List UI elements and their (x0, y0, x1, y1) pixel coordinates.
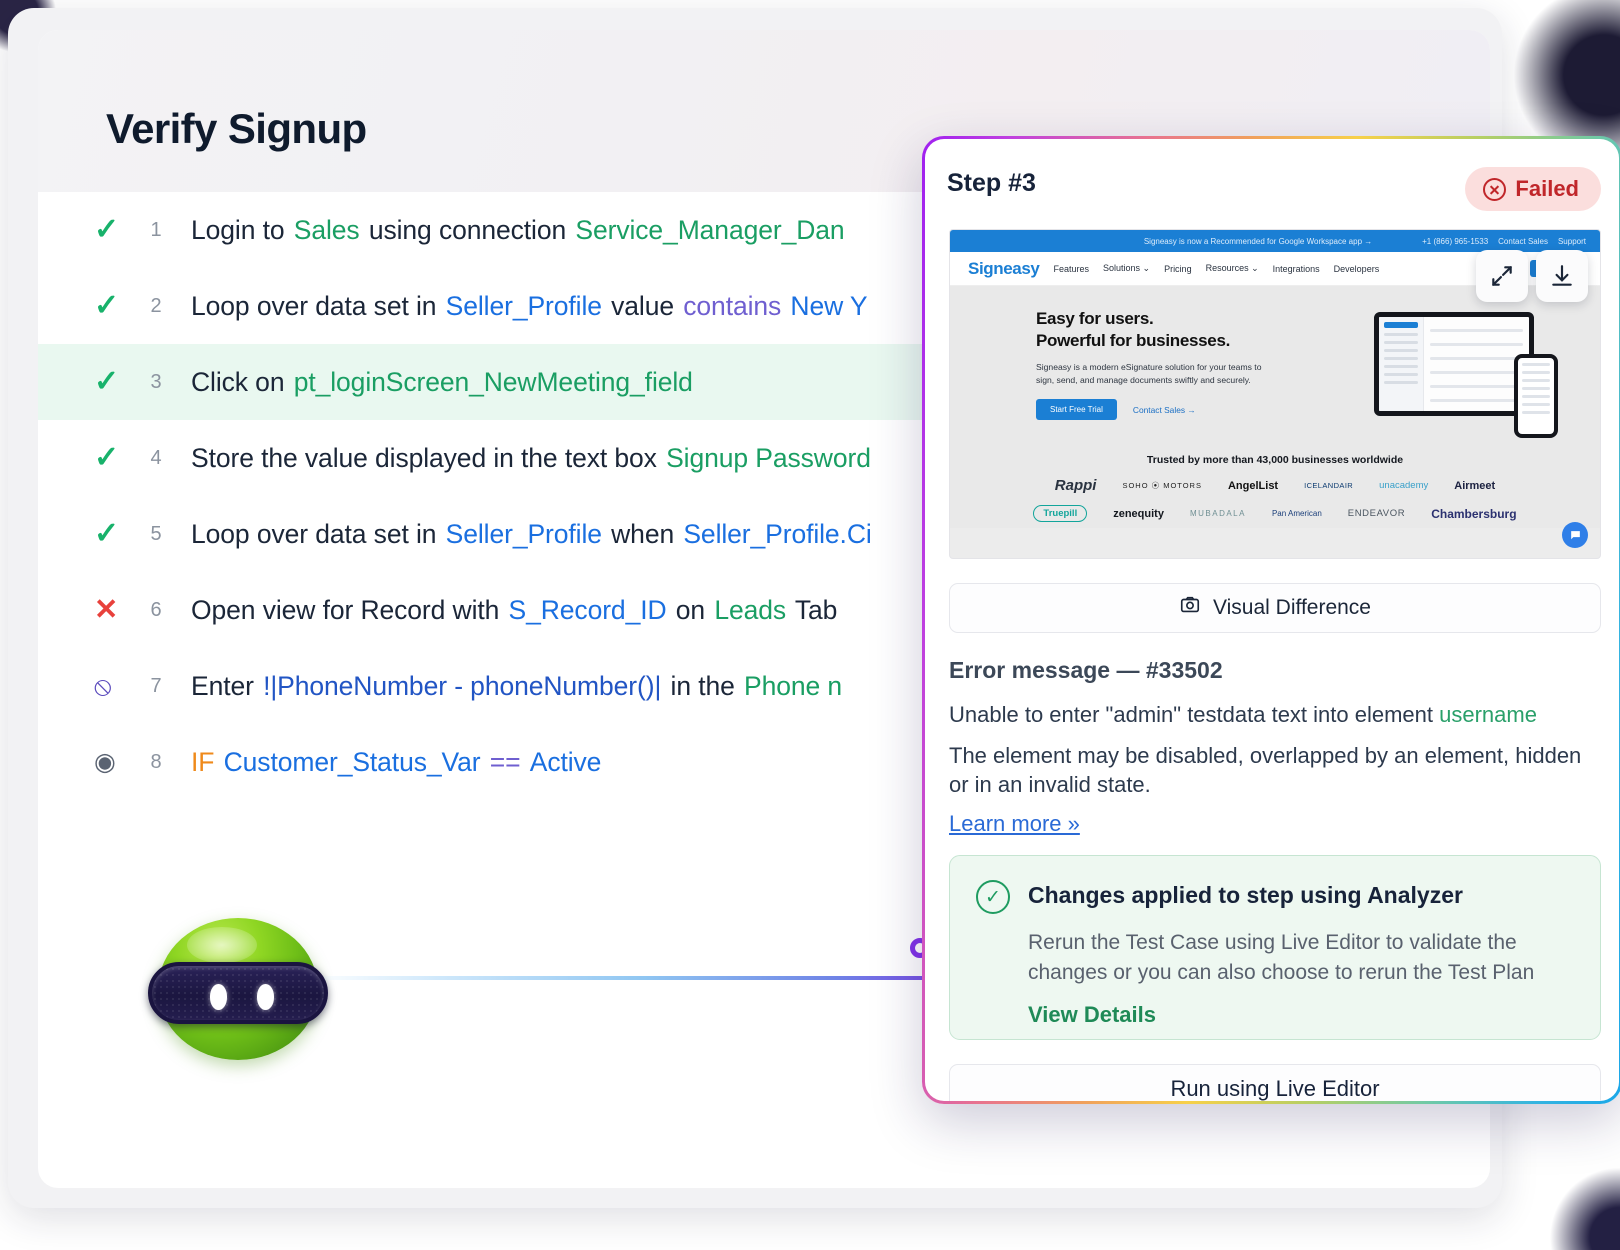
nav-item-4: Integrations (1273, 264, 1320, 274)
nav-item-2: Pricing (1164, 264, 1192, 274)
screenshot-root: Verify Signup ✓1Login to Sales using con… (0, 0, 1620, 1250)
client-logo-zenequity: zenequity (1113, 508, 1164, 520)
announcement-text: Signeasy is now a Recommended for Google… (964, 237, 1422, 246)
step-token: Tab (787, 595, 838, 625)
step-status-pass-icon: ✓ (94, 519, 136, 549)
contact-phone: +1 (866) 965-1533 (1422, 237, 1488, 246)
step-status-pass-icon: ✓ (94, 215, 136, 245)
step-description: Login to Sales using connection Service_… (176, 215, 846, 246)
step-token: Loop over data set in (190, 291, 445, 321)
step-number: 4 (136, 447, 176, 470)
step-token: !|PhoneNumber - phoneNumber()| (262, 671, 662, 701)
client-logo-endeavor: ENDEAVOR (1348, 508, 1405, 519)
avatar-connector-line (324, 976, 964, 980)
step-number: 7 (136, 675, 176, 698)
step-detail-panel: Step #3 Failed Signeasy is now a Recomme… (922, 136, 1620, 1104)
error-element-name: username (1439, 702, 1537, 727)
step-token: when (603, 519, 682, 549)
download-screenshot-icon[interactable] (1536, 250, 1588, 302)
step-token: in the (662, 671, 743, 701)
client-logo-airmeet: Airmeet (1454, 480, 1495, 492)
step-token: Signup Password (665, 443, 872, 473)
step-number: 3 (136, 371, 176, 394)
expand-screenshot-icon[interactable] (1476, 250, 1528, 302)
step-description: Open view for Record with S_Record_ID on… (176, 595, 838, 626)
step-number-label: Step #3 (947, 169, 1036, 198)
visual-difference-label: Visual Difference (1213, 596, 1371, 620)
step-number: 6 (136, 599, 176, 622)
error-message-title: Error message — #33502 (949, 657, 1223, 684)
step-status-fail-icon: ✕ (94, 596, 136, 625)
avatar-eye-left (210, 984, 227, 1010)
step-token: on (668, 595, 714, 625)
step-token: Seller_Profile (445, 291, 603, 321)
site-announcement-bar: Signeasy is now a Recommended for Google… (950, 230, 1600, 252)
contact-sales-link: Contact Sales (1498, 237, 1548, 246)
page-title: Verify Signup (106, 105, 367, 153)
step-token: Store the value displayed in the text bo… (190, 443, 665, 473)
step-status-skipped-icon: ⦸ (94, 673, 136, 700)
step-detail-body: Step #3 Failed Signeasy is now a Recomme… (925, 139, 1619, 1101)
step-number: 5 (136, 523, 176, 546)
step-screenshot-preview[interactable]: Signeasy is now a Recommended for Google… (949, 229, 1601, 559)
step-status-pending-icon: ◉ (94, 750, 136, 775)
analyzer-notice: ✓ Changes applied to step using Analyzer… (949, 855, 1601, 1040)
view-details-link[interactable]: View Details (1028, 1002, 1574, 1028)
error-line1-text: Unable to enter "admin" testdata text in… (949, 702, 1439, 727)
error-message-line2: The element may be disabled, overlapped … (949, 741, 1604, 799)
step-token: IF (190, 747, 223, 777)
phone-mockup-icon (1514, 354, 1558, 438)
step-description: Click on pt_loginScreen_NewMeeting_field (176, 367, 694, 398)
site-trust-section: Trusted by more than 43,000 businesses w… (950, 446, 1600, 528)
step-token: Seller_Profile.Ci (682, 519, 872, 549)
failed-circle-x-icon (1483, 178, 1506, 201)
analyzer-title: Changes applied to step using Analyzer (1028, 882, 1463, 909)
hero-primary-button: Start Free Trial (1036, 399, 1117, 420)
client-logo-icelandair: ICELANDAIR (1304, 481, 1353, 490)
avatar-eye-right (257, 984, 274, 1010)
client-logo-chambersburg: Chambersburg (1431, 507, 1516, 521)
client-logo-row-1: Rappi SOHO ⦿ MOTORS AngelList ICELANDAIR… (950, 477, 1600, 494)
laptop-mockup-icon (1374, 312, 1534, 416)
step-token: Leads (713, 595, 787, 625)
status-badge: Failed (1465, 167, 1601, 211)
hero-illustration (1374, 312, 1552, 430)
step-token: Seller_Profile (445, 519, 603, 549)
camera-icon (1179, 594, 1201, 622)
site-chat-bubble-icon (1562, 522, 1588, 548)
client-logo-unacademy: unacademy (1379, 480, 1428, 491)
nav-item-0: Features (1053, 264, 1089, 274)
check-circle-icon: ✓ (976, 880, 1010, 914)
step-token: New Y (782, 291, 868, 321)
client-logo-pan-american: Pan American (1272, 509, 1322, 518)
step-description: Loop over data set in Seller_Profile val… (176, 291, 869, 322)
client-logo-mubadala: MUBADALA (1190, 509, 1246, 518)
step-token: Sales (293, 215, 361, 245)
support-link: Support (1558, 237, 1586, 246)
client-logo-angellist: AngelList (1228, 480, 1278, 492)
step-token: Service_Manager_Dan (574, 215, 845, 245)
step-description: Loop over data set in Seller_Profile whe… (176, 519, 873, 550)
client-logo-truepill: Truepill (1033, 505, 1087, 522)
step-token: Open view for Record with (190, 595, 508, 625)
step-token: Active (529, 747, 603, 777)
avatar-visor-icon (148, 962, 328, 1024)
nav-item-1: Solutions ⌄ (1103, 263, 1150, 274)
hero-secondary-link: Contact Sales → (1133, 405, 1196, 415)
run-using-live-editor-label: Run using Live Editor (1170, 1076, 1379, 1101)
status-badge-label: Failed (1515, 176, 1579, 202)
step-token: using connection (361, 215, 575, 245)
step-token: value (603, 291, 682, 321)
step-token: pt_loginScreen_NewMeeting_field (293, 367, 694, 397)
visual-difference-button[interactable]: Visual Difference (949, 583, 1601, 633)
step-status-pass-icon: ✓ (94, 291, 136, 321)
step-token: Customer_Status_Var (223, 747, 482, 777)
client-logo-row-2: Truepill zenequity MUBADALA Pan American… (950, 505, 1600, 522)
step-status-pass-icon: ✓ (94, 443, 136, 473)
step-token: Login to (190, 215, 293, 245)
step-token: S_Record_ID (508, 595, 668, 625)
site-hero: Easy for users. Powerful for businesses.… (950, 286, 1600, 446)
step-token: == (481, 747, 528, 777)
error-message-line1: Unable to enter "admin" testdata text in… (949, 702, 1609, 728)
step-number: 8 (136, 751, 176, 774)
step-token: Enter (190, 671, 262, 701)
hero-subtext: Signeasy is a modern eSignature solution… (1036, 361, 1266, 388)
site-logo: Signeasy (968, 259, 1039, 279)
learn-more-link[interactable]: Learn more » (949, 811, 1080, 837)
step-token: Phone n (743, 671, 843, 701)
step-number: 2 (136, 295, 176, 318)
run-using-live-editor-button[interactable]: Run using Live Editor (949, 1064, 1601, 1101)
nav-item-3: Resources ⌄ (1206, 263, 1259, 274)
laptop-sidebar (1379, 317, 1424, 411)
step-status-pass-icon: ✓ (94, 367, 136, 397)
step-token: Loop over data set in (190, 519, 445, 549)
topbar-contacts: +1 (866) 965-1533 Contact Sales Support (1422, 237, 1586, 246)
step-description: Store the value displayed in the text bo… (176, 443, 872, 474)
step-number: 1 (136, 219, 176, 242)
nav-item-5: Developers (1334, 264, 1380, 274)
assistant-avatar[interactable] (148, 918, 328, 1060)
step-token: contains (682, 291, 782, 321)
client-logo-soho-motors: SOHO ⦿ MOTORS (1122, 480, 1202, 491)
trust-heading: Trusted by more than 43,000 businesses w… (950, 454, 1600, 466)
analyzer-body: Rerun the Test Case using Live Editor to… (1028, 928, 1574, 988)
step-description: Enter !|PhoneNumber - phoneNumber()| in … (176, 671, 843, 702)
analyzer-header: ✓ Changes applied to step using Analyzer (976, 882, 1574, 914)
step-token: Click on (190, 367, 293, 397)
step-description: IF Customer_Status_Var == Active (176, 747, 602, 778)
client-logo-rappi: Rappi (1055, 477, 1097, 494)
